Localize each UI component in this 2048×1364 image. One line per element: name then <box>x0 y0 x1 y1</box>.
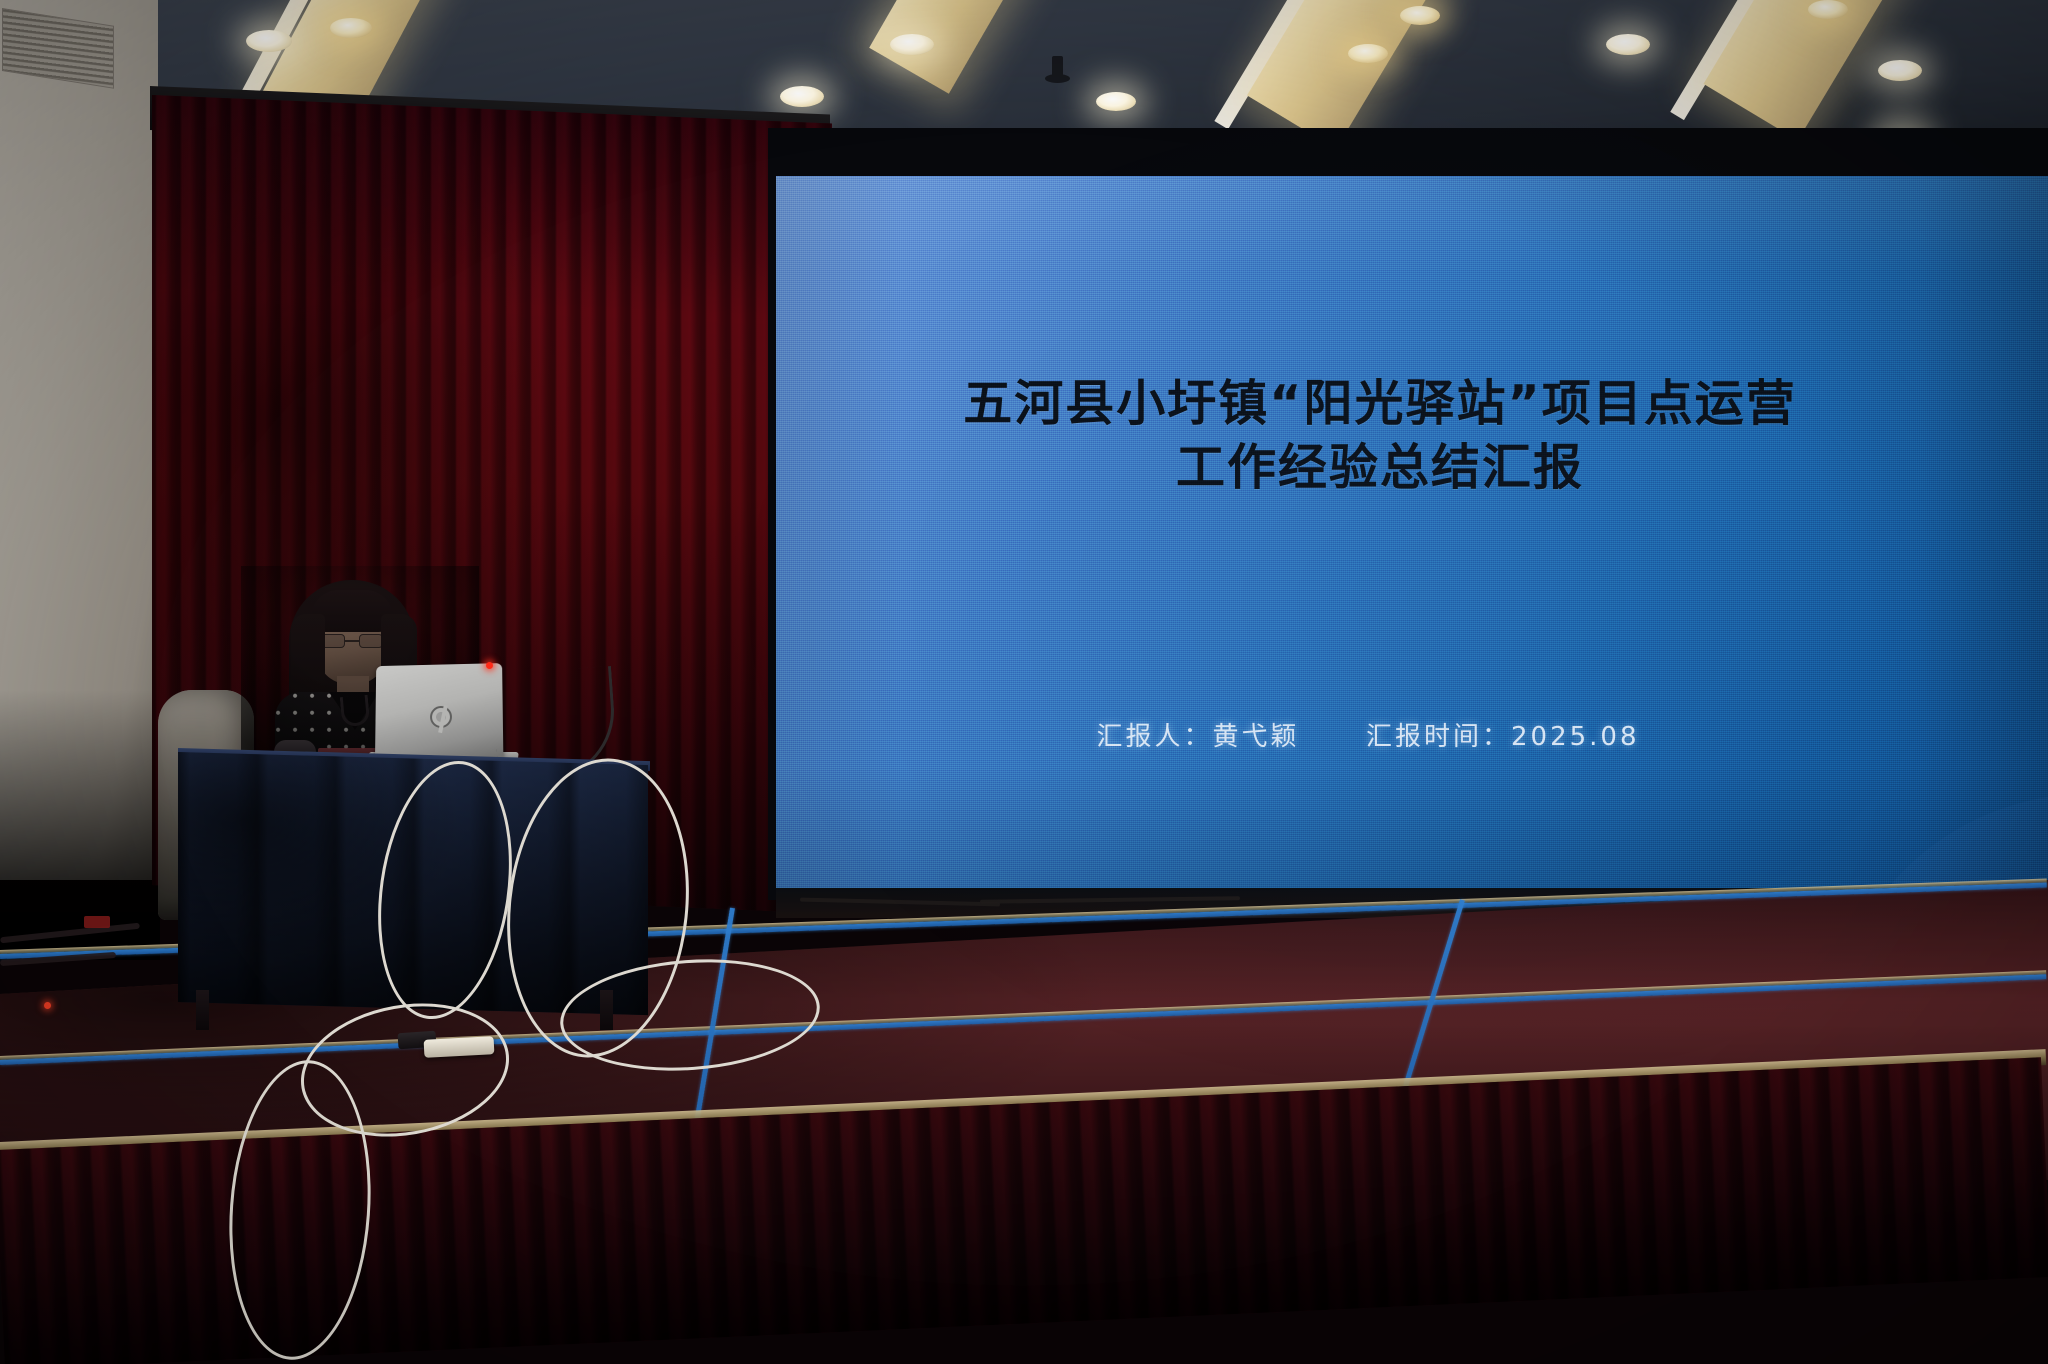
power-strip[interactable] <box>424 1036 495 1058</box>
slide-presenter-label: 汇报人：黄弋颖 <box>1096 722 1299 752</box>
ceiling-downlight <box>1606 34 1650 55</box>
conference-room-scene: 五河县小圩镇“阳光驿站”项目点运营 工作经验总结汇报 汇报人：黄弋颖 汇报时间：… <box>0 0 2048 1364</box>
led-screen: 五河县小圩镇“阳光驿站”项目点运营 工作经验总结汇报 汇报人：黄弋颖 汇报时间：… <box>776 176 2048 894</box>
left-wall <box>0 0 158 880</box>
air-vent-grille <box>2 8 114 89</box>
ceiling-downlight <box>246 30 292 52</box>
slide-meta: 汇报人：黄弋颖 汇报时间：2025.08 <box>776 716 1960 753</box>
ceiling-downlight <box>1400 6 1440 25</box>
ceiling-downlight <box>1096 92 1136 111</box>
slide-title: 五河县小圩镇“阳光驿站”项目点运营 工作经验总结汇报 <box>776 372 1984 499</box>
equipment-indicator-led <box>44 1002 51 1009</box>
ceiling-downlight <box>1808 0 1848 19</box>
wall-shadow <box>0 690 160 960</box>
laptop-lid <box>375 663 503 758</box>
sprinkler-head <box>1052 56 1063 82</box>
ceiling-downlight <box>1878 60 1922 81</box>
ceiling-downlight <box>780 86 824 107</box>
ceiling-downlight <box>330 18 372 38</box>
laptop-status-led <box>486 662 493 669</box>
dell-logo-icon <box>430 706 452 728</box>
floor-equipment-box <box>84 916 110 928</box>
dell-laptop[interactable] <box>368 664 508 764</box>
ceiling-downlight <box>1348 44 1388 63</box>
table-leg <box>196 990 209 1030</box>
ceiling-downlight <box>890 34 934 55</box>
slide-date-label: 汇报时间：2025.08 <box>1366 722 1640 752</box>
eyeglasses-icon <box>321 634 383 648</box>
